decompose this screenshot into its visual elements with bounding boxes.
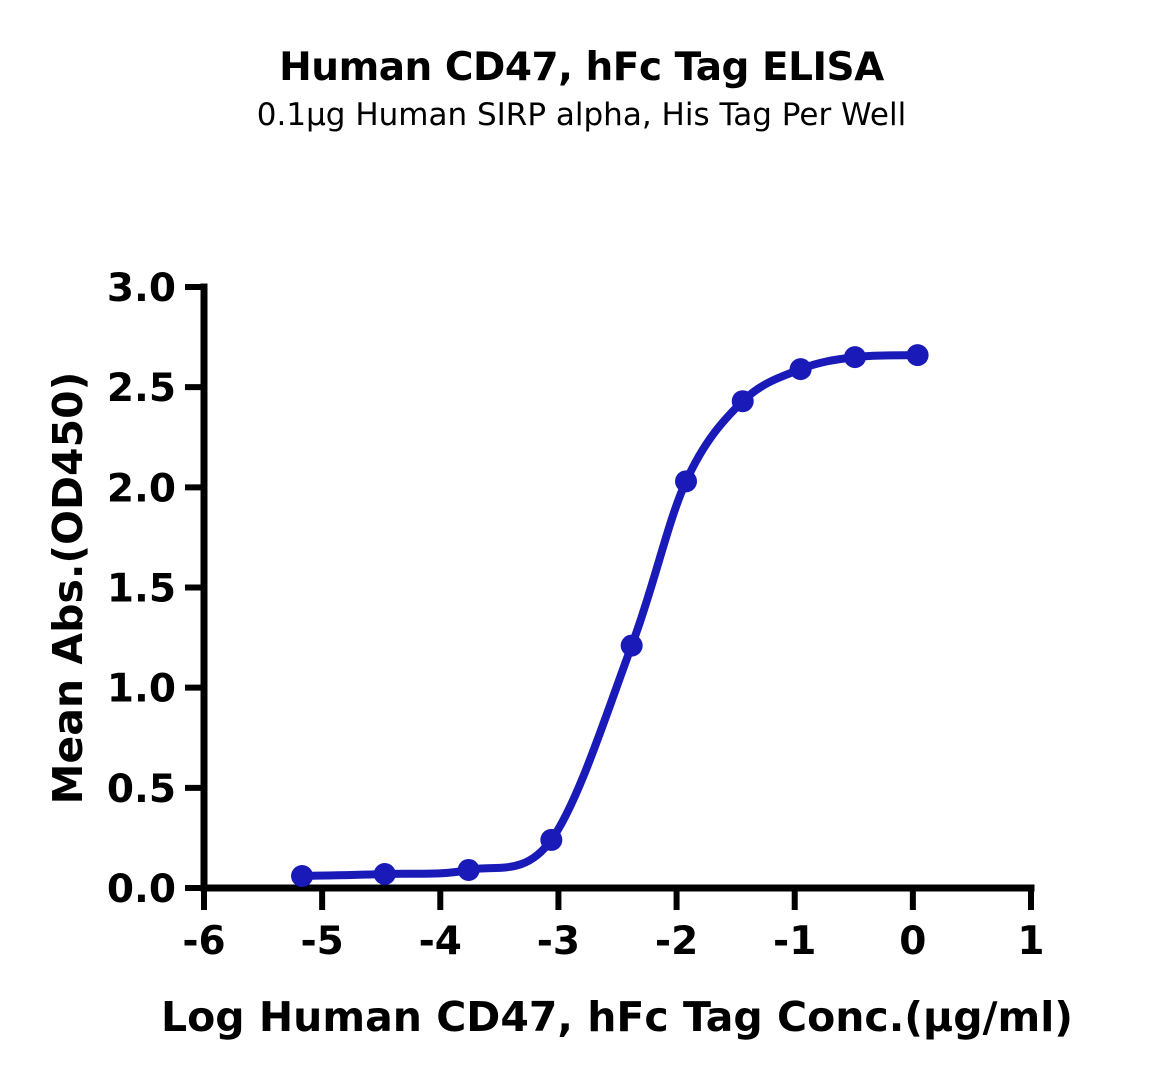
y-tick-label: 0.0 bbox=[107, 867, 176, 912]
x-tick-label: -2 bbox=[655, 919, 698, 964]
plot-svg: 0.00.51.01.52.02.53.0 -6-5-4-3-2-101 Log… bbox=[0, 0, 1163, 1087]
data-point bbox=[291, 865, 313, 887]
data-point bbox=[907, 344, 929, 366]
y-tick-label: 2.5 bbox=[107, 366, 176, 411]
data-point bbox=[732, 390, 754, 412]
series-markers-human-cd47 bbox=[291, 344, 929, 887]
y-axis-title: Mean Abs.(OD450) bbox=[44, 372, 92, 805]
x-tick-label: -3 bbox=[537, 919, 580, 964]
y-tick-label: 3.0 bbox=[107, 266, 176, 311]
x-tick-label: 1 bbox=[1017, 919, 1044, 964]
data-point bbox=[458, 859, 480, 881]
y-tick-label: 0.5 bbox=[107, 767, 176, 812]
chart-figure: Human CD47, hFc Tag ELISA 0.1μg Human SI… bbox=[0, 0, 1163, 1087]
plot-area: 0.00.51.01.52.02.53.0 -6-5-4-3-2-101 Log… bbox=[0, 0, 1163, 1087]
data-point bbox=[621, 635, 643, 657]
y-tick-label: 1.0 bbox=[107, 667, 176, 712]
x-tick-label: -5 bbox=[300, 919, 343, 964]
x-axis-title: Log Human CD47, hFc Tag Conc.(μg/ml) bbox=[161, 993, 1073, 1041]
y-tick-label: 2.0 bbox=[107, 466, 176, 511]
series-line-human-cd47 bbox=[302, 355, 918, 876]
x-tick-label: -6 bbox=[182, 919, 225, 964]
data-point bbox=[844, 346, 866, 368]
data-point bbox=[374, 863, 396, 885]
x-tick-label: 0 bbox=[899, 919, 926, 964]
x-tick-label: -4 bbox=[419, 919, 462, 964]
data-point bbox=[790, 358, 812, 380]
data-point bbox=[675, 470, 697, 492]
data-point bbox=[540, 829, 562, 851]
y-tick-label: 1.5 bbox=[107, 567, 176, 612]
x-tick-label: -1 bbox=[773, 919, 816, 964]
y-tick-label-group: 0.00.51.01.52.02.53.0 bbox=[107, 266, 176, 912]
x-tick-label-group: -6-5-4-3-2-101 bbox=[182, 919, 1044, 964]
